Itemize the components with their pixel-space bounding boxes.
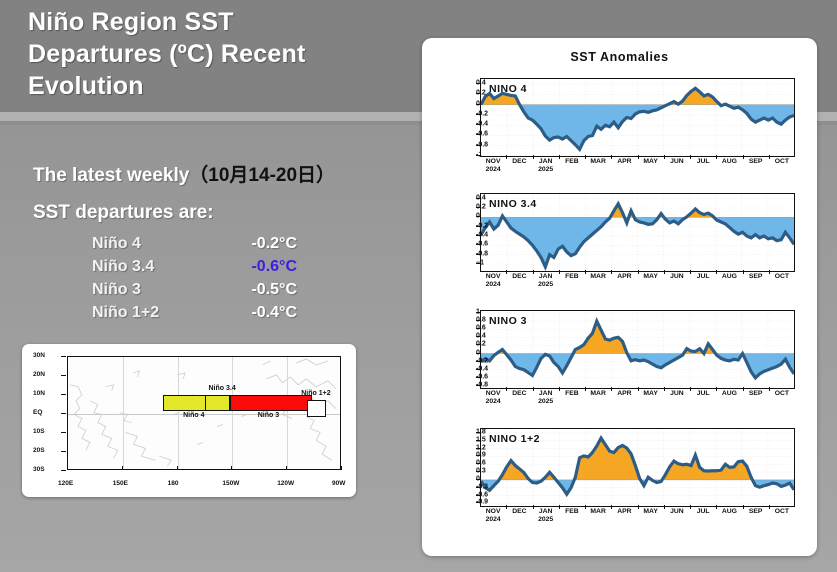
chart-x-tick — [559, 270, 560, 274]
chart-x-tick — [585, 155, 586, 159]
chart-x-tick — [611, 270, 612, 274]
departure-row: Niño 1+2-0.4°C — [92, 304, 322, 327]
chart-y-tick — [476, 198, 480, 199]
chart-x-month: MAY — [643, 508, 657, 516]
chart-y-tick — [476, 361, 480, 362]
chart-y-tick — [476, 114, 480, 115]
chart-region-label: NINO 1+2 — [489, 433, 540, 445]
chart-x-tick — [690, 270, 691, 274]
chart-x-tick-label: AUG — [722, 273, 737, 281]
chart-x-tick — [533, 155, 534, 159]
map-x-tick — [341, 466, 342, 470]
chart-x-tick-label: JAN2025 — [538, 508, 553, 524]
chart-region-label: NINO 3.4 — [489, 198, 537, 210]
chart-x-tick-label: OCT — [775, 273, 789, 281]
chart-y-tick — [476, 495, 480, 496]
departure-value: -0.2°C — [217, 235, 297, 253]
chart-y-tick — [476, 263, 480, 264]
map-x-tick-label: 150E — [113, 480, 128, 487]
page-title-line-3: Evolution — [28, 70, 408, 102]
map-y-tick-label: 20N — [33, 371, 45, 378]
chart-y-tick — [476, 124, 480, 125]
chart-x-tick-label: JUL — [697, 273, 710, 281]
chart-x-month: JUN — [670, 508, 684, 516]
chart-y-tick — [476, 455, 480, 456]
chart-x-tick — [638, 270, 639, 274]
chart-x-month: APR — [617, 158, 631, 166]
chart-y-tick — [476, 448, 480, 449]
nino-regions-map-panel: Niño 4Niño 3.4Niño 3Niño 1+2 30N20N10NEQ… — [22, 344, 356, 497]
map-x-tick-label: 120E — [58, 480, 73, 487]
departure-value: -0.4°C — [217, 304, 297, 322]
chart-y-tick — [476, 385, 480, 386]
map-x-tick — [286, 466, 287, 470]
chart-x-tick — [559, 505, 560, 509]
map-grid-line — [178, 357, 179, 469]
chart-x-tick-label: MAY — [643, 390, 657, 398]
chart-x-tick-label: APR — [617, 158, 631, 166]
chart-x-tick-label: OCT — [775, 158, 789, 166]
chart-x-tick — [638, 387, 639, 391]
chart-y-tick — [476, 244, 480, 245]
map-plot-area: Niño 4Niño 3.4Niño 3Niño 1+2 — [67, 356, 341, 470]
chart-x-year: 2025 — [538, 398, 553, 406]
chart-x-tick — [716, 505, 717, 509]
chart-x-tick — [533, 270, 534, 274]
chart-x-tick-label: SEP — [749, 273, 763, 281]
chart-x-tick-label: NOV2024 — [486, 273, 501, 289]
chart-x-tick-label: FEB — [565, 273, 579, 281]
page-title-line-1: Niño Region SST — [28, 6, 408, 38]
map-region-label: Niño 3 — [258, 412, 279, 419]
chart-x-tick-label: SEP — [749, 158, 763, 166]
chart-x-tick-label: MAR — [590, 390, 605, 398]
chart-x-year: 2024 — [486, 398, 501, 406]
chart-x-tick-label: AUG — [722, 390, 737, 398]
departure-region-name: Niño 4 — [92, 235, 217, 253]
chart-x-month: JUN — [670, 273, 684, 281]
chart-x-tick-label: JUN — [670, 273, 684, 281]
chart-x-year: 2024 — [486, 516, 501, 524]
sst-departures-table: Niño 4-0.2°CNiño 3.4-0.6°CNiño 3-0.5°CNi… — [92, 235, 322, 327]
chart-x-tick — [743, 155, 744, 159]
chart-x-tick — [638, 505, 639, 509]
chart-x-tick-label: JUN — [670, 390, 684, 398]
chart-x-tick — [533, 387, 534, 391]
chart-x-tick — [506, 155, 507, 159]
map-region-label: Niño 1+2 — [301, 390, 330, 397]
chart-x-month: JUL — [697, 390, 710, 398]
chart-x-month: FEB — [565, 158, 579, 166]
chart-x-tick — [664, 505, 665, 509]
chart-x-tick — [559, 387, 560, 391]
chart-y-tick — [476, 353, 480, 354]
chart-x-month: JAN — [538, 273, 553, 281]
chart-x-tick-label: DEC — [512, 158, 526, 166]
chart-x-year: 2025 — [538, 516, 553, 524]
chart-x-month: OCT — [775, 158, 789, 166]
chart-x-tick — [506, 505, 507, 509]
chart-plot-area: NINO 3 — [480, 310, 795, 389]
chart-x-month: DEC — [512, 273, 526, 281]
chart-x-tick — [585, 505, 586, 509]
chart-region-label: NINO 4 — [489, 83, 527, 95]
chart-x-tick — [769, 387, 770, 391]
map-y-tick — [61, 432, 66, 433]
departure-region-name: Niño 3.4 — [92, 258, 217, 276]
chart-y-tick — [476, 377, 480, 378]
chart-x-month: MAR — [590, 273, 605, 281]
chart-x-tick — [769, 270, 770, 274]
chart-x-tick — [690, 155, 691, 159]
chart-x-tick-label: MAR — [590, 273, 605, 281]
chart-x-tick — [769, 155, 770, 159]
chart-x-tick-label: JUN — [670, 508, 684, 516]
map-grid-line — [287, 357, 288, 469]
chart-y-tick — [476, 487, 480, 488]
chart-y-tick — [476, 93, 480, 94]
chart-x-tick-label: NOV2024 — [486, 508, 501, 524]
chart-x-tick-label: FEB — [565, 390, 579, 398]
departure-value: -0.5°C — [217, 281, 297, 299]
chart-x-tick-label: APR — [617, 390, 631, 398]
chart-x-tick — [585, 270, 586, 274]
map-y-tick — [61, 451, 66, 452]
chart-x-tick-label: JUN — [670, 158, 684, 166]
map-x-tick — [67, 466, 68, 470]
chart-y-tick — [476, 83, 480, 84]
latest-weekly-heading: The latest weekly（10月14-20日） — [33, 160, 335, 187]
chart-x-month: MAY — [643, 158, 657, 166]
chart-x-month: AUG — [722, 390, 737, 398]
chart-x-month: NOV — [486, 508, 501, 516]
map-region-label: Niño 3.4 — [208, 385, 235, 392]
chart-y-tick — [476, 336, 480, 337]
chart-x-month: AUG — [722, 273, 737, 281]
map-x-tick-label: 150W — [222, 480, 239, 487]
chart-x-tick-label: MAY — [643, 158, 657, 166]
map-region-box — [230, 395, 312, 410]
chart-plot-area: NINO 1+2 — [480, 428, 795, 507]
map-y-tick-label: 10S — [33, 428, 45, 435]
chart-x-tick-label: JAN2025 — [538, 390, 553, 406]
chart-x-month: JUL — [697, 273, 710, 281]
map-y-tick — [61, 413, 66, 414]
chart-x-month: JAN — [538, 158, 553, 166]
chart-x-tick-label: MAR — [590, 508, 605, 516]
chart-x-month: APR — [617, 273, 631, 281]
chart-region-label: NINO 3 — [489, 315, 527, 327]
chart-x-tick — [716, 155, 717, 159]
chart-x-tick-label: NOV2024 — [486, 390, 501, 406]
chart-y-tick — [476, 155, 480, 156]
chart-x-tick — [664, 387, 665, 391]
chart-negative-area — [481, 321, 794, 378]
chart-x-tick — [690, 505, 691, 509]
chart-x-tick-label: DEC — [512, 508, 526, 516]
map-x-tick-label: 180 — [168, 480, 179, 487]
chart-x-year: 2024 — [486, 166, 501, 174]
chart-y-tick — [476, 432, 480, 433]
chart-x-month: FEB — [565, 273, 579, 281]
chart-x-tick — [664, 155, 665, 159]
map-x-tick-label: 90W — [332, 480, 345, 487]
chart-y-tick — [476, 312, 480, 313]
chart-x-month: SEP — [749, 158, 763, 166]
chart-y-tick — [476, 145, 480, 146]
chart-y-tick — [476, 440, 480, 441]
chart-x-tick — [611, 505, 612, 509]
chart-y-tick — [476, 207, 480, 208]
chart-x-month: JUN — [670, 390, 684, 398]
chart-y-tick — [476, 134, 480, 135]
map-y-tick — [61, 356, 66, 357]
chart-x-tick — [506, 270, 507, 274]
departure-row: Niño 3.4-0.6°C — [92, 258, 322, 281]
map-region-box — [307, 400, 326, 417]
chart-x-tick-label: JUL — [697, 390, 710, 398]
chart-x-tick — [664, 270, 665, 274]
chart-x-tick — [743, 505, 744, 509]
chart-y-tick — [476, 502, 480, 503]
chart-x-tick-label: OCT — [775, 508, 789, 516]
chart-x-tick — [638, 155, 639, 159]
chart-x-tick-label: FEB — [565, 508, 579, 516]
map-y-tick-label: 20S — [33, 447, 45, 454]
map-grid-line — [232, 357, 233, 469]
chart-x-tick-label: JAN2025 — [538, 273, 553, 289]
chart-x-tick-label: APR — [617, 508, 631, 516]
chart-y-tick — [476, 226, 480, 227]
latest-weekly-date: （10月14-20日） — [189, 165, 335, 186]
chart-x-month: MAR — [590, 390, 605, 398]
map-x-tick — [122, 466, 123, 470]
chart-x-tick-label: MAY — [643, 508, 657, 516]
chart-x-month: FEB — [565, 390, 579, 398]
chart-x-month: MAR — [590, 508, 605, 516]
chart-x-tick-label: DEC — [512, 273, 526, 281]
chart-series-line — [481, 438, 794, 494]
chart-x-month: NOV — [486, 390, 501, 398]
chart-svg — [481, 311, 794, 388]
chart-x-tick-label: SEP — [749, 508, 763, 516]
chart-x-month: JUL — [697, 158, 710, 166]
chart-x-tick-label: FEB — [565, 158, 579, 166]
chart-x-tick — [690, 387, 691, 391]
page-title-line-2: Departures (ºC) Recent — [28, 38, 408, 70]
chart-x-tick-label: JUL — [697, 158, 710, 166]
chart-x-tick-label: DEC — [512, 390, 526, 398]
charts-title: SST Anomalies — [422, 50, 817, 64]
chart-x-month: OCT — [775, 390, 789, 398]
chart-x-tick — [769, 505, 770, 509]
nino-regions-map: Niño 4Niño 3.4Niño 3Niño 1+2 30N20N10NEQ… — [31, 351, 347, 490]
map-region-label: Niño 4 — [183, 412, 204, 419]
chart-x-tick — [506, 387, 507, 391]
chart-x-month: DEC — [512, 508, 526, 516]
chart-x-month: SEP — [749, 390, 763, 398]
chart-x-month: NOV — [486, 273, 501, 281]
chart-x-month: FEB — [565, 508, 579, 516]
chart-x-year: 2024 — [486, 281, 501, 289]
map-y-tick — [61, 375, 66, 376]
chart-x-month: AUG — [722, 508, 737, 516]
departure-row: Niño 3-0.5°C — [92, 281, 322, 304]
chart-x-tick-label: AUG — [722, 158, 737, 166]
chart-y-tick — [476, 216, 480, 217]
chart-x-month: NOV — [486, 158, 501, 166]
map-y-tick — [61, 470, 66, 471]
chart-x-tick — [743, 387, 744, 391]
chart-y-tick — [476, 328, 480, 329]
chart-x-tick — [611, 155, 612, 159]
chart-x-month: SEP — [749, 508, 763, 516]
chart-x-tick — [533, 505, 534, 509]
chart-y-tick — [476, 320, 480, 321]
chart-x-tick-label: NOV2024 — [486, 158, 501, 174]
chart-x-tick-label: AUG — [722, 508, 737, 516]
chart-x-month: DEC — [512, 158, 526, 166]
chart-x-tick-label: MAR — [590, 158, 605, 166]
page-title: Niño Region SST Departures (ºC) Recent E… — [28, 6, 408, 102]
chart-x-month: OCT — [775, 508, 789, 516]
chart-x-tick-label: JUL — [697, 508, 710, 516]
chart-x-tick — [716, 387, 717, 391]
departure-row: Niño 4-0.2°C — [92, 235, 322, 258]
sst-departures-label: SST departures are: — [33, 202, 214, 224]
chart-y-tick — [476, 479, 480, 480]
chart-x-tick-label: MAY — [643, 273, 657, 281]
sst-anomalies-panel: SST Anomalies NINO 40.40.20-0.2-0.4-0.6-… — [422, 38, 817, 556]
map-y-tick-label: EQ — [33, 409, 42, 416]
chart-x-month: JUL — [697, 508, 710, 516]
chart-x-tick-label: APR — [617, 273, 631, 281]
chart-plot-area: NINO 4 — [480, 78, 795, 157]
map-y-tick-label: 10N — [33, 390, 45, 397]
chart-x-month: MAR — [590, 158, 605, 166]
map-x-tick — [177, 466, 178, 470]
chart-x-year: 2025 — [538, 281, 553, 289]
chart-x-tick-label: SEP — [749, 390, 763, 398]
map-y-tick-label: 30N — [33, 352, 45, 359]
map-grid-line — [123, 357, 124, 469]
chart-svg — [481, 79, 794, 156]
chart-y-tick — [476, 254, 480, 255]
map-y-tick-label: 30S — [33, 466, 45, 473]
chart-x-month: JAN — [538, 508, 553, 516]
chart-y-tick — [476, 471, 480, 472]
chart-x-month: MAY — [643, 273, 657, 281]
chart-y-tick — [476, 463, 480, 464]
chart-plot-area: NINO 3.4 — [480, 193, 795, 272]
chart-x-month: AUG — [722, 158, 737, 166]
map-x-tick — [231, 466, 232, 470]
latest-weekly-text: The latest weekly — [33, 165, 189, 186]
chart-x-month: DEC — [512, 390, 526, 398]
departure-region-name: Niño 3 — [92, 281, 217, 299]
chart-x-tick — [743, 270, 744, 274]
chart-y-tick — [476, 235, 480, 236]
chart-x-month: OCT — [775, 273, 789, 281]
chart-x-month: MAY — [643, 390, 657, 398]
chart-x-year: 2025 — [538, 166, 553, 174]
chart-x-tick — [716, 270, 717, 274]
map-y-tick — [61, 394, 66, 395]
chart-x-tick — [611, 387, 612, 391]
chart-x-tick-label: JAN2025 — [538, 158, 553, 174]
departure-value: -0.6°C — [217, 258, 297, 276]
chart-x-month: APR — [617, 508, 631, 516]
chart-y-tick — [476, 104, 480, 105]
chart-x-month: APR — [617, 390, 631, 398]
departure-region-name: Niño 1+2 — [92, 304, 217, 322]
chart-y-tick — [476, 369, 480, 370]
chart-x-month: SEP — [749, 273, 763, 281]
chart-x-month: JUN — [670, 158, 684, 166]
chart-x-tick — [585, 387, 586, 391]
chart-x-tick — [559, 155, 560, 159]
chart-x-month: JAN — [538, 390, 553, 398]
chart-y-tick — [476, 344, 480, 345]
map-x-tick-label: 120W — [277, 480, 294, 487]
chart-x-tick-label: OCT — [775, 390, 789, 398]
